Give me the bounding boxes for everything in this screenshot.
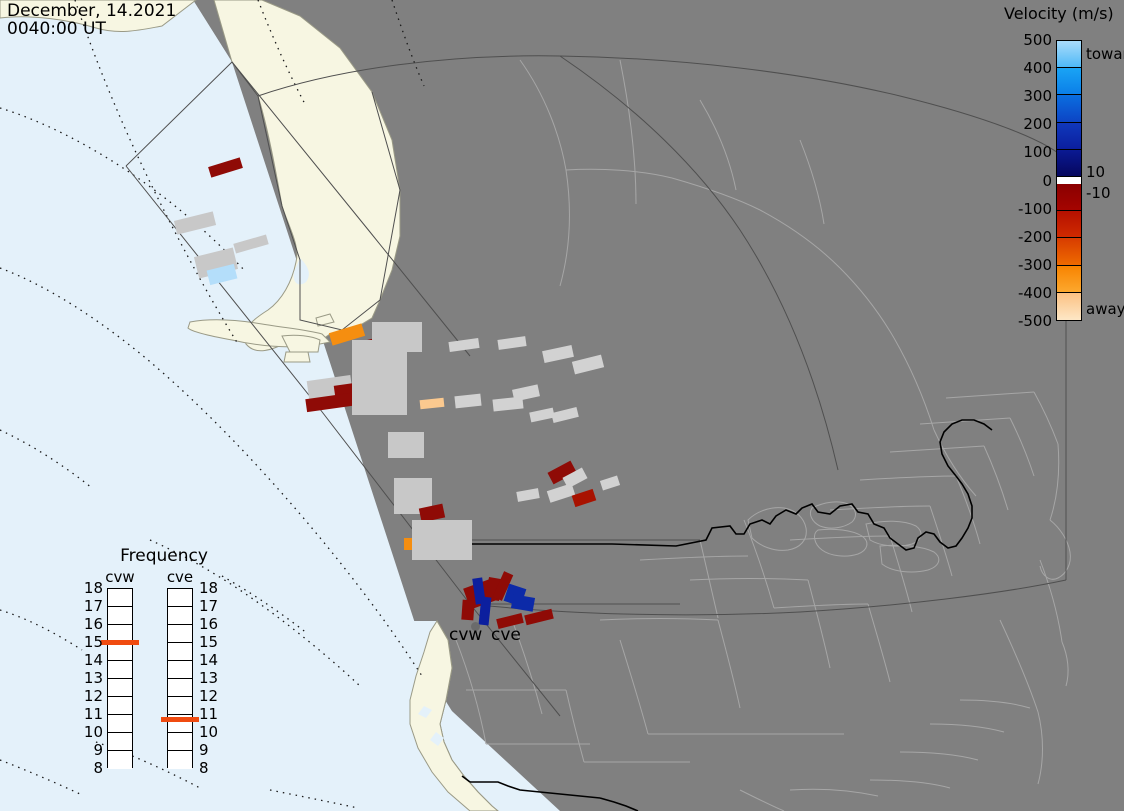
- frequency-axis-label: 15: [199, 633, 223, 651]
- colorbar-segment: [1057, 95, 1081, 122]
- radar-velocity-map: December, 14.2021 0040:00 UT Velocity (m…: [0, 0, 1124, 811]
- frequency-marker-cvw: [101, 640, 139, 645]
- frequency-column-label-cve: cve: [157, 568, 203, 586]
- velocity-cell: [542, 345, 574, 363]
- velocity-colorbar: Velocity (m/s) 5004003002001000-100-200-…: [1000, 0, 1124, 340]
- velocity-cell: [420, 398, 445, 409]
- colorbar-segment: [1057, 123, 1081, 150]
- frequency-axis-label: 16: [79, 615, 103, 633]
- title-time: 0040:00 UT: [7, 19, 106, 39]
- colorbar-segment: [1057, 238, 1081, 265]
- colorbar-tick: 300: [1000, 87, 1052, 105]
- frequency-bar-cvw: [107, 588, 133, 768]
- colorbar-tick: 100: [1000, 143, 1052, 161]
- frequency-bar-segment: [108, 751, 132, 769]
- colorbar-gradient-bar: [1056, 40, 1082, 321]
- frequency-bar-cve: [167, 588, 193, 768]
- velocity-cell: [461, 600, 474, 621]
- frequency-bar-segment: [168, 733, 192, 751]
- frequency-axis-label: 13: [79, 669, 103, 687]
- frequency-axis-label: 18: [79, 579, 103, 597]
- frequency-axis-label: 18: [199, 579, 223, 597]
- velocity-cell: [497, 336, 526, 350]
- frequency-legend-title: Frequency: [109, 546, 219, 566]
- radar-site-label-cve: cve: [491, 625, 521, 645]
- velocity-cell: [448, 338, 479, 352]
- frequency-axis-label: 12: [79, 687, 103, 705]
- frequency-bar-segment: [168, 751, 192, 769]
- frequency-axis-label: 10: [79, 723, 103, 741]
- frequency-bar-segment: [108, 715, 132, 733]
- colorbar-title: Velocity (m/s): [1004, 4, 1124, 23]
- frequency-column-label-cvw: cvw: [97, 568, 143, 586]
- frequency-axis-label: 16: [199, 615, 223, 633]
- frequency-bar-segment: [168, 643, 192, 661]
- frequency-bar-segment: [168, 589, 192, 607]
- colorbar-zero-lower-label: -10: [1086, 184, 1111, 202]
- frequency-axis-label: 11: [199, 705, 223, 723]
- velocity-cell: [479, 597, 492, 626]
- colorbar-zero-band: [1057, 177, 1081, 184]
- velocity-cell: [551, 407, 579, 423]
- frequency-bar-segment: [168, 607, 192, 625]
- velocity-cell: [572, 489, 597, 507]
- frequency-axis-label: 10: [199, 723, 223, 741]
- colorbar-zero-upper-label: 10: [1086, 163, 1105, 181]
- frequency-bar-segment: [108, 607, 132, 625]
- frequency-bar-segment: [108, 679, 132, 697]
- velocity-cell: [388, 432, 424, 458]
- frequency-axis-label: 12: [199, 687, 223, 705]
- frequency-legend: Frequency cvw18171615141312111098cve1817…: [85, 546, 240, 781]
- colorbar-tick: 200: [1000, 115, 1052, 133]
- colorbar-segment: [1057, 293, 1081, 320]
- velocity-cell: [352, 340, 407, 415]
- frequency-bar-segment: [168, 697, 192, 715]
- frequency-axis-label: 8: [79, 759, 103, 777]
- frequency-bar-segment: [108, 661, 132, 679]
- title-date: December, 14.2021: [7, 1, 176, 21]
- colorbar-tick: 500: [1000, 31, 1052, 49]
- velocity-cell: [511, 594, 535, 612]
- frequency-bar-segment: [108, 697, 132, 715]
- colorbar-tick: -400: [1000, 284, 1052, 302]
- frequency-bar-segment: [168, 661, 192, 679]
- colorbar-segment: [1057, 266, 1081, 293]
- timestamp-title: December, 14.2021 0040:00 UT: [7, 2, 176, 38]
- frequency-bar-segment: [108, 589, 132, 607]
- velocity-cell: [412, 520, 472, 560]
- colorbar-segment: [1057, 150, 1081, 177]
- velocity-cell: [492, 396, 523, 411]
- frequency-bar-segment: [168, 679, 192, 697]
- velocity-cell: [572, 355, 604, 375]
- frequency-bar-segment: [108, 733, 132, 751]
- frequency-axis-label: 11: [79, 705, 103, 723]
- colorbar-tick: -100: [1000, 200, 1052, 218]
- colorbar-tick: -200: [1000, 228, 1052, 246]
- velocity-cell: [174, 211, 216, 234]
- colorbar-segment: [1057, 211, 1081, 238]
- colorbar-toward-label: toward: [1086, 45, 1124, 63]
- frequency-bar-segment: [108, 643, 132, 661]
- velocity-cell: [454, 394, 481, 409]
- colorbar-segment: [1057, 68, 1081, 95]
- frequency-axis-label: 14: [199, 651, 223, 669]
- frequency-axis-label: 17: [79, 597, 103, 615]
- frequency-marker-cve: [161, 717, 199, 722]
- velocity-cell: [208, 157, 243, 177]
- frequency-axis-label: 14: [79, 651, 103, 669]
- velocity-cell: [233, 235, 268, 254]
- colorbar-segment: [1057, 184, 1081, 211]
- velocity-cell: [600, 475, 620, 490]
- colorbar-segment: [1057, 41, 1081, 68]
- frequency-axis-label: 9: [199, 741, 223, 759]
- colorbar-tick: -300: [1000, 256, 1052, 274]
- radar-site-label-cvw: cvw: [449, 625, 482, 645]
- colorbar-tick: -500: [1000, 312, 1052, 330]
- frequency-axis-label: 15: [79, 633, 103, 651]
- frequency-bar-segment: [168, 625, 192, 643]
- colorbar-tick: 400: [1000, 59, 1052, 77]
- frequency-axis-label: 9: [79, 741, 103, 759]
- frequency-axis-label: 17: [199, 597, 223, 615]
- frequency-axis-label: 8: [199, 759, 223, 777]
- velocity-cell: [547, 483, 575, 502]
- velocity-cell: [516, 488, 539, 502]
- colorbar-tick: 0: [1000, 172, 1052, 190]
- frequency-axis-label: 13: [199, 669, 223, 687]
- colorbar-away-label: away: [1086, 300, 1124, 318]
